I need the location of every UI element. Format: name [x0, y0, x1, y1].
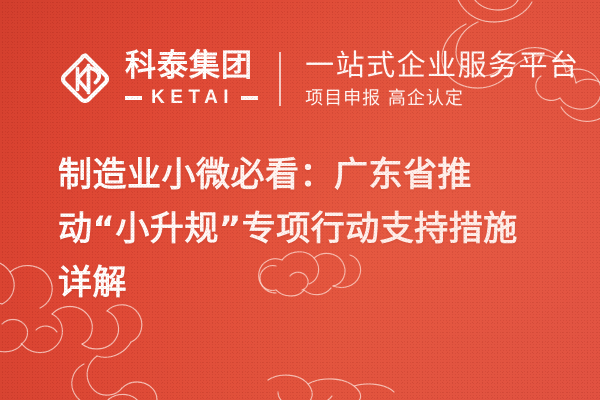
banner-header: 科泰集团 KETAI 一站式企业服务平台 项目申报 高企认定 [57, 40, 580, 118]
promo-banner: 科泰集团 KETAI 一站式企业服务平台 项目申报 高企认定 制造业小微必看：广… [0, 0, 600, 400]
tagline-secondary: 项目申报 高企认定 [305, 90, 580, 108]
company-name-en: KETAI [142, 88, 241, 107]
tagline-block: 一站式企业服务平台 项目申报 高企认定 [305, 50, 580, 107]
ketai-logo-icon [57, 51, 113, 107]
tagline-primary: 一站式企业服务平台 [305, 50, 580, 80]
cloud-decoration-bottom [262, 368, 422, 400]
banner-title: 制造业小微必看：广东省推动“小升规”专项行动支持措施详解 [58, 148, 550, 310]
company-name-cn: 科泰集团 [125, 51, 258, 82]
logo-dash-left [125, 96, 142, 100]
header-divider [279, 52, 281, 106]
company-name-en-row: KETAI [125, 88, 258, 107]
logo-wordmark: 科泰集团 KETAI [125, 51, 258, 107]
logo-dash-right [241, 96, 258, 100]
